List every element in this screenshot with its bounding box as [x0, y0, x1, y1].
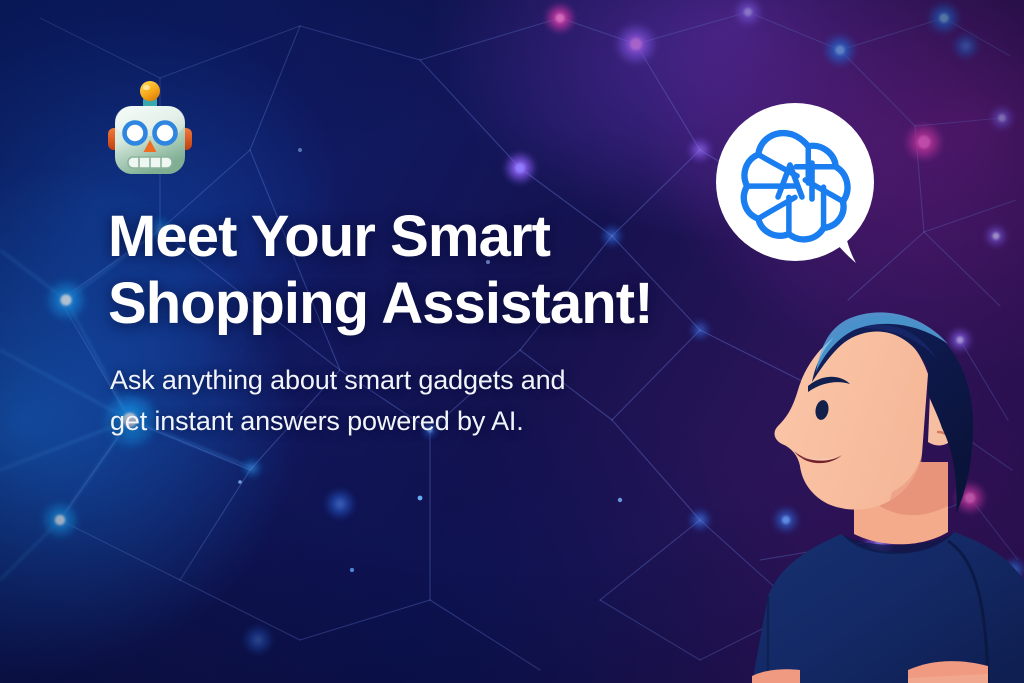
ai-assistant-hero-banner: Meet Your Smart Shopping Assistant! Ask … — [0, 0, 1024, 683]
subhead-line-1: Ask anything about smart gadgets and — [110, 360, 710, 401]
headline-line-2: Shopping Assistant! — [108, 270, 748, 337]
page-subtitle: Ask anything about smart gadgets and get… — [110, 360, 710, 442]
page-title: Meet Your Smart Shopping Assistant! — [108, 203, 748, 337]
robot-face-emoji — [106, 78, 194, 182]
subhead-line-2: get instant answers powered by AI. — [110, 401, 710, 442]
person-profile-illustration — [742, 266, 1024, 683]
headline-line-1: Meet Your Smart — [108, 203, 748, 270]
ai-speech-bubble-icon[interactable]: AI — [716, 103, 882, 269]
